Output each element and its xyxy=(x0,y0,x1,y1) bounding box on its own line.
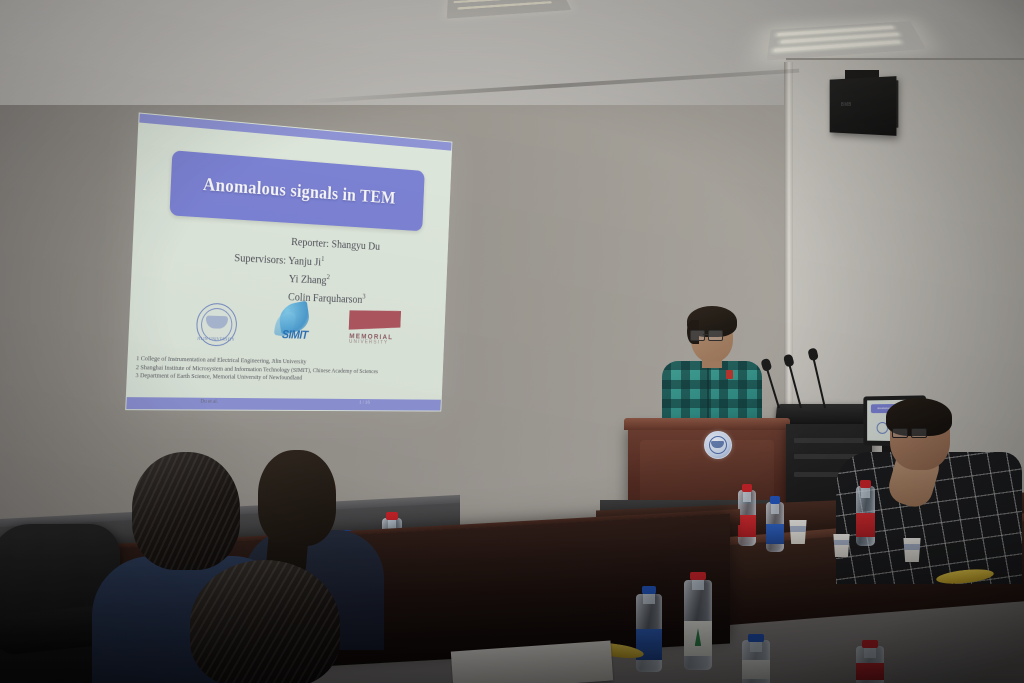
speaker-brand-label: BMB xyxy=(841,102,851,108)
slide-title: Anomalous signals in TEM xyxy=(203,175,396,209)
lectern-crest-icon xyxy=(704,431,732,459)
slide-title-box: Anomalous signals in TEM xyxy=(169,150,424,231)
water-bottle xyxy=(636,586,662,672)
hair-texture xyxy=(190,560,340,683)
lectern-top-surface xyxy=(624,418,790,430)
slide-byline: Reporter: Shangyu Du Supervisors: Yanju … xyxy=(232,231,431,310)
water-bottle xyxy=(684,572,712,670)
slide-affiliations: 1 College of Instrumentation and Electri… xyxy=(135,355,437,385)
byline-supervisor-2: Yi Zhang xyxy=(289,272,327,286)
water-bottle xyxy=(856,480,875,546)
byline-supervisors: Supervisors: Yanju Ji xyxy=(234,251,321,268)
paper-cup xyxy=(788,520,808,544)
sup-marker-3: 3 xyxy=(362,292,365,301)
presentation-slide: Anomalous signals in TEM Reporter: Shang… xyxy=(125,112,452,411)
sup-marker-2: 2 xyxy=(326,272,330,281)
slide-footer-author: Du et al. xyxy=(200,399,218,405)
simit-wordmark: SIMIT xyxy=(282,328,308,342)
attendee-woman-head xyxy=(258,450,336,546)
slide-footer: Du et al. 1 / 16 xyxy=(126,396,441,411)
presenter-glasses-icon xyxy=(690,330,724,339)
wall-speaker: BMB xyxy=(830,76,897,136)
paper-cup xyxy=(902,538,922,562)
jilin-university-seal-icon: JILIN UNIVERSITY xyxy=(196,302,238,346)
paper-cup xyxy=(832,534,851,557)
conference-room-photo: BMB Anomalous signals in TEM Reporter: S… xyxy=(0,0,1024,683)
hair-texture xyxy=(132,452,240,570)
slide-logo-row: JILIN UNIVERSITY SIMIT MEMORIAL UNIVERSI… xyxy=(186,301,414,350)
simit-logo-icon: SIMIT xyxy=(273,302,329,347)
jlu-seal-text: JILIN UNIVERSITY xyxy=(197,336,236,342)
water-bottle xyxy=(856,640,884,683)
slide-page-indicator: 1 / 16 xyxy=(359,400,370,406)
water-bottle xyxy=(742,634,770,683)
sup-marker-1: 1 xyxy=(321,254,325,263)
memorial-university-logo-icon: MEMORIAL UNIVERSITY xyxy=(348,309,403,348)
water-bottle xyxy=(738,484,756,546)
mun-line-2: UNIVERSITY xyxy=(349,339,388,346)
water-bottle xyxy=(766,496,784,552)
projection-screen: Anomalous signals in TEM Reporter: Shang… xyxy=(125,112,452,411)
attendee-blue-shirt-head xyxy=(132,452,240,570)
name-badge xyxy=(726,370,733,379)
seated-man-glasses-icon xyxy=(892,428,926,436)
attendee-foreground-head xyxy=(190,560,340,683)
